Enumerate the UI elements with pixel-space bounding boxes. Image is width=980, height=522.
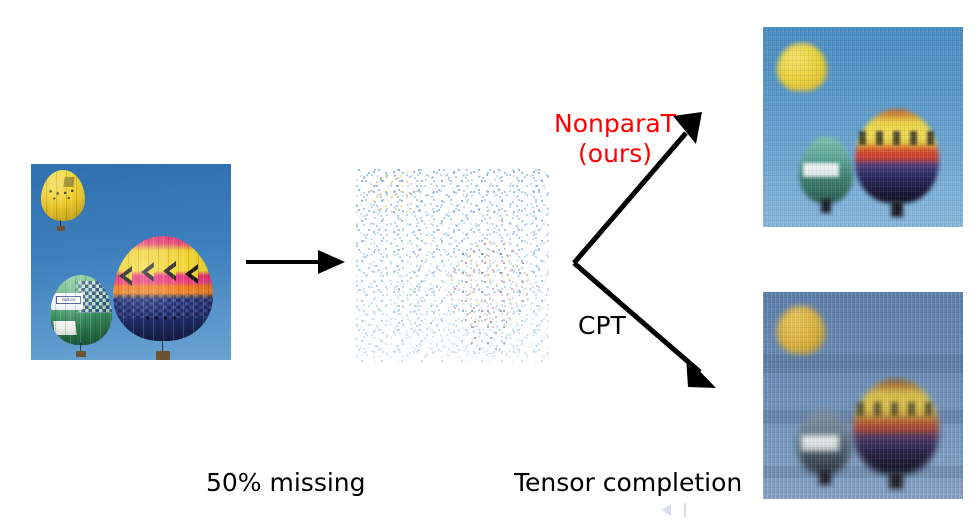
figure-canvas: Balloon (0, 0, 980, 522)
arrow-degradation (246, 250, 345, 274)
label-nonparat-line2: (ours) (551, 139, 679, 169)
caption-tensor-completion: Tensor completion (514, 468, 742, 497)
text-cursor-icon (684, 503, 686, 517)
label-nonparat: NonparaT (ours) (551, 109, 679, 168)
caption-missing: 50% missing (206, 468, 366, 497)
label-cpt: CPT (578, 311, 626, 340)
slide-nav-control[interactable] (660, 501, 696, 519)
triangle-left-icon[interactable] (662, 504, 671, 516)
label-nonparat-line1: NonparaT (554, 109, 676, 138)
arrow-layer (0, 0, 980, 522)
